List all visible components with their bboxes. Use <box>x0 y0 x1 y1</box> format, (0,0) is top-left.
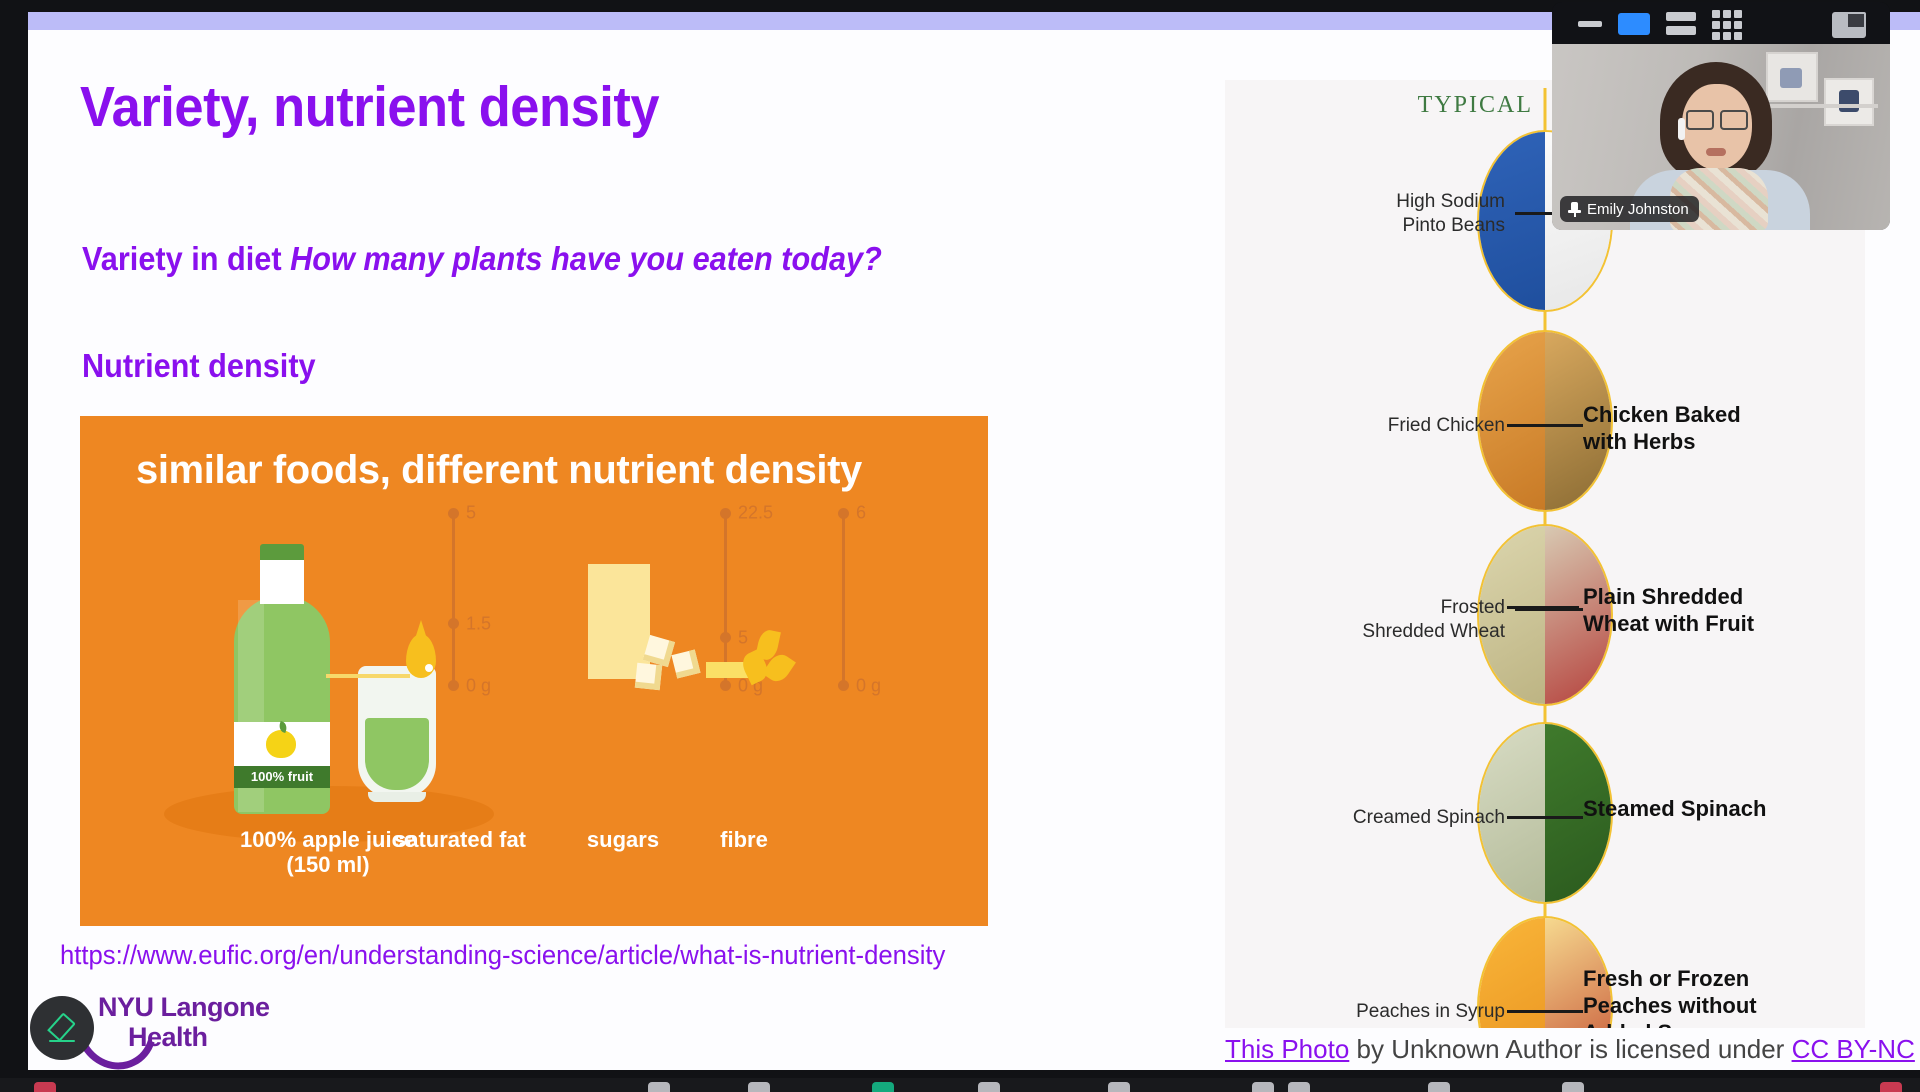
apple-icon <box>266 730 296 758</box>
photo-attribution: This Photo by Unknown Author is licensed… <box>1225 1034 1875 1065</box>
sugar-cube-icon <box>671 649 700 678</box>
taskbar-icon[interactable] <box>872 1082 894 1092</box>
nutrient-density-heading: Nutrient density <box>82 347 316 385</box>
juice-glass-illustration <box>358 666 436 806</box>
page-title: Variety, nutrient density <box>80 74 659 140</box>
pin-icon <box>1568 202 1581 217</box>
comparison-row: Creamed Spinach Steamed Spinach <box>1225 724 1865 914</box>
rows-view-icon[interactable] <box>1666 12 1696 36</box>
nutrient-density-infographic: similar foods, different nutrient densit… <box>80 416 988 926</box>
label-typical: Creamed Spinach <box>1353 806 1505 830</box>
attribution-middle-text: by Unknown Author is licensed under <box>1349 1034 1791 1064</box>
label-typical: High Sodium Pinto Beans <box>1396 190 1505 238</box>
label-typical: Peaches in Syrup <box>1356 1000 1505 1024</box>
nutrient-label-fibre: fibre <box>684 828 804 853</box>
screen-share-window: Variety, nutrient density Variety in die… <box>0 0 1920 1092</box>
label-nutrient-dense: Steamed Spinach <box>1583 796 1766 823</box>
earbud-icon <box>1678 118 1685 140</box>
juice-bottle-illustration: 100% fruit <box>230 544 334 814</box>
label-typical: Fried Chicken <box>1388 414 1505 438</box>
variety-subline-bold: Variety in diet <box>82 240 282 277</box>
source-url-link[interactable]: https://www.eufic.org/en/understanding-s… <box>60 940 945 971</box>
taskbar-icon[interactable] <box>1428 1082 1450 1092</box>
taskbar-icon[interactable] <box>748 1082 770 1092</box>
taskbar-icon[interactable] <box>1108 1082 1130 1092</box>
speaker-view-icon[interactable] <box>1618 13 1650 35</box>
comparison-row: Frosted Shredded Wheat Plain Shredded Wh… <box>1225 526 1865 716</box>
label-nutrient-dense: Fresh or Frozen Peaches without Added Su… <box>1583 966 1757 1028</box>
taskbar-icon[interactable] <box>1562 1082 1584 1092</box>
taskbar-icon[interactable] <box>1252 1082 1274 1092</box>
taskbar-icon[interactable] <box>34 1082 56 1092</box>
minimize-icon[interactable] <box>1578 21 1602 27</box>
participant-name-badge: Emily Johnston <box>1560 196 1699 222</box>
pen-icon <box>47 1013 77 1043</box>
glasses-icon <box>1686 110 1748 126</box>
video-view-toolbar <box>1552 2 1890 44</box>
label-nutrient-dense: Chicken Baked with Herbs <box>1583 402 1741 456</box>
nutrient-label-saturated-fat: saturated fat <box>380 828 540 853</box>
cc-license-link[interactable]: CC BY-NC <box>1792 1034 1915 1064</box>
infographic-title: similar foods, different nutrient densit… <box>136 448 862 493</box>
picture-in-picture-icon[interactable] <box>1832 12 1866 38</box>
saturated-fat-rule <box>326 674 410 678</box>
taskbar-icon[interactable] <box>1880 1082 1902 1092</box>
bottle-label-text: 100% fruit <box>234 766 330 788</box>
comparison-row: Fried Chicken Chicken Baked with Herbs <box>1225 332 1865 522</box>
sugar-cube-icon <box>635 663 662 690</box>
participant-video-overlay[interactable]: Emily Johnston <box>1552 2 1890 230</box>
variety-subline: Variety in diet How many plants have you… <box>82 240 882 278</box>
nyu-langone-health-logo: NYU Langone Health <box>76 984 286 1058</box>
sugars-bar <box>588 564 650 679</box>
nutrient-label-sugars: sugars <box>558 828 688 853</box>
annotate-button[interactable] <box>30 996 94 1060</box>
label-nutrient-dense: Plain Shredded Wheat with Fruit <box>1583 584 1754 638</box>
comparison-row: Peaches in Syrup Fresh or Frozen Peaches… <box>1225 918 1865 1028</box>
grid-view-icon[interactable] <box>1712 10 1742 40</box>
variety-subline-question: How many plants have you eaten today? <box>290 240 882 277</box>
taskbar[interactable] <box>0 1078 1920 1092</box>
label-typical: Frosted Shredded Wheat <box>1362 596 1505 644</box>
photo-header-typical: TYPICAL <box>1418 92 1533 119</box>
this-photo-link[interactable]: This Photo <box>1225 1034 1349 1064</box>
wall-art-icon <box>1766 52 1818 102</box>
taskbar-icon[interactable] <box>1288 1082 1310 1092</box>
taskbar-icon[interactable] <box>648 1082 670 1092</box>
taskbar-icon[interactable] <box>978 1082 1000 1092</box>
wall-art-icon <box>1824 78 1874 126</box>
participant-name: Emily Johnston <box>1587 201 1689 218</box>
oil-drop-icon <box>406 634 436 678</box>
